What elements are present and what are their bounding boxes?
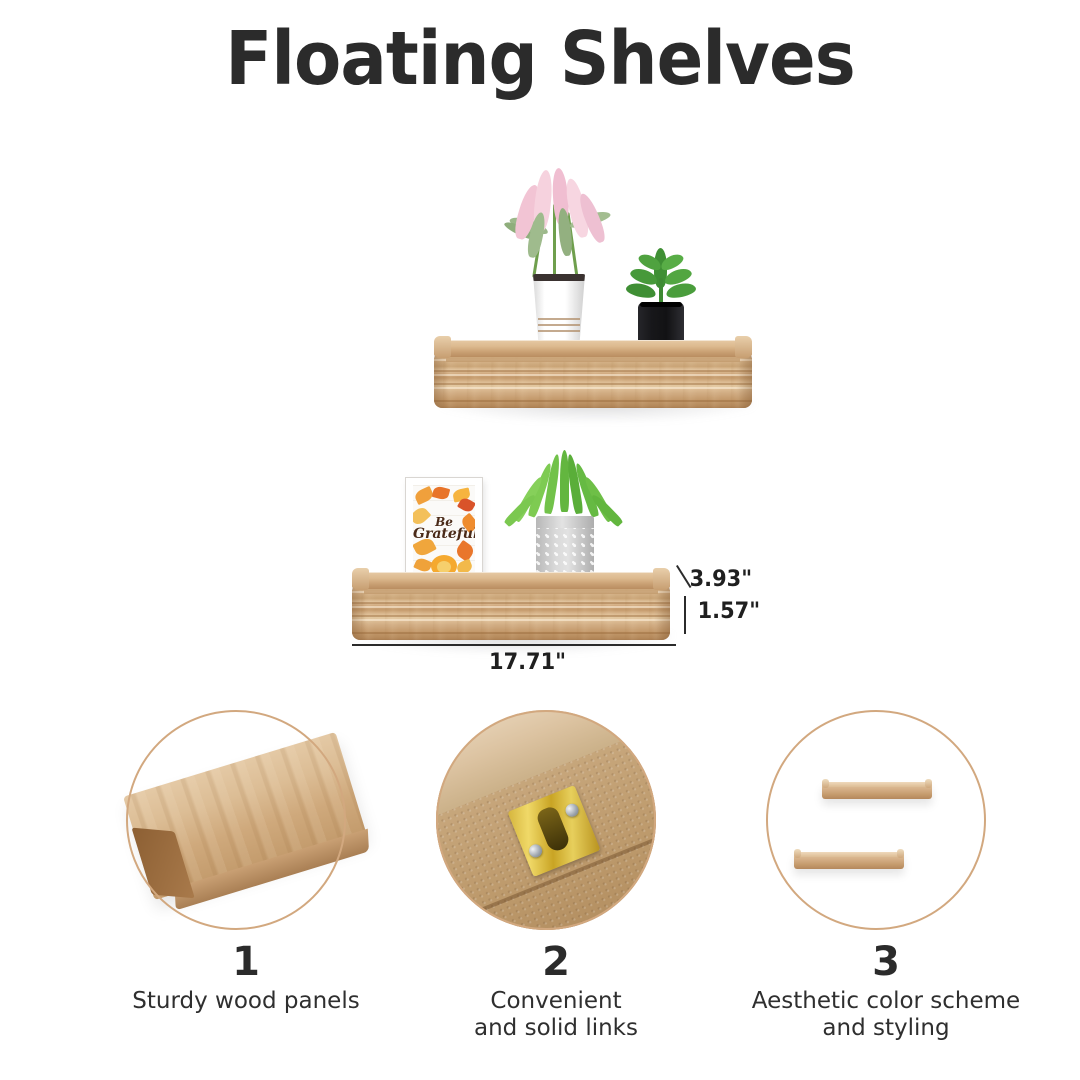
page-title: Floating Shelves: [38, 22, 1042, 96]
feature-caption-line-1: Convenient: [406, 988, 706, 1015]
picture-frame: Be Grateful: [406, 478, 482, 582]
shelf-face: [352, 588, 670, 640]
feature-number: 3: [766, 942, 1006, 982]
width-dimension-label: 17.71": [489, 650, 566, 675]
feature-caption-line-2: and styling: [736, 1015, 1036, 1042]
height-dimension-label: 1.57": [698, 599, 760, 624]
height-dimension-line: [684, 596, 686, 634]
feature-caption-line-2: and solid links: [406, 1015, 706, 1042]
width-dimension-line: [352, 644, 676, 646]
feature-circle-outline: [126, 710, 346, 930]
feature-circle-outline: [766, 710, 986, 930]
depth-dimension-label: 3.93": [690, 567, 752, 592]
feature-caption-line-1: Aesthetic color scheme: [736, 988, 1036, 1015]
feature-number: 1: [126, 942, 366, 982]
shelf-lip: [434, 340, 752, 357]
feature-number: 2: [436, 942, 676, 982]
infographic-canvas: Floating Shelves: [0, 0, 1080, 1080]
shelf-lip: [352, 572, 670, 589]
shelf-face: [434, 356, 752, 408]
white-planter-with-pink-plant: [497, 168, 627, 360]
upper-shelf: [434, 340, 752, 408]
pink-plant-foliage: [497, 168, 627, 286]
succulent-foliage: [614, 248, 710, 310]
lower-shelf: [352, 572, 670, 640]
feature-circle-outline: [436, 710, 656, 930]
feature-caption-line-1: Sturdy wood panels: [96, 988, 396, 1015]
gray-planter-with-spiky-plant: [512, 450, 618, 592]
